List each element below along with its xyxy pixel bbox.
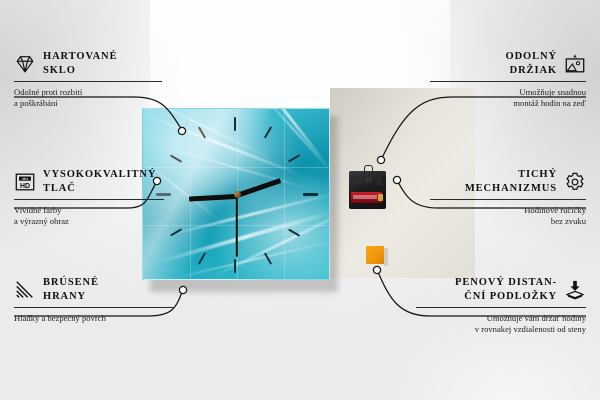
feature-title: ODOLNÝ DRŽIAK (506, 50, 558, 77)
beveled-edge-icon (14, 279, 36, 301)
clock-tick-10 (170, 154, 182, 163)
movement-detail (353, 177, 362, 184)
feature-header: ODOLNÝ DRŽIAK (430, 50, 586, 77)
picture-frame-icon (564, 53, 586, 75)
battery-label-strip (353, 195, 377, 199)
feature-header: BRÚSENÉ HRANY (14, 276, 174, 303)
feature-divider (14, 307, 174, 308)
feature-beveled-edges: BRÚSENÉ HRANY Hladký a bezpečný povrch (14, 276, 174, 324)
feature-description: Umožňuje vám držať hodiny v rovnakej vzd… (416, 313, 586, 335)
feature-title: HARTOVANÉ SKLO (43, 50, 117, 77)
feature-header: HARTOVANÉ SKLO (14, 50, 162, 77)
feature-durable-hanger: ODOLNÝ DRŽIAK Umožňuje snadnou montáž ho… (430, 50, 586, 109)
feature-divider (430, 199, 586, 200)
movement-detail (365, 177, 372, 183)
clock-second-hand (236, 195, 238, 257)
clock-center-cap (234, 191, 241, 198)
feature-title: BRÚSENÉ HRANY (43, 276, 99, 303)
clock-product (142, 108, 338, 288)
feature-description: Hodinové ručičky bez zvuku (430, 205, 586, 227)
ultra-hd-icon: ultra HD (14, 171, 36, 193)
battery-terminal (378, 194, 383, 201)
print-gridline (190, 109, 191, 279)
clock-tick-7 (198, 252, 207, 264)
gear-icon (564, 171, 586, 193)
clock-tick-3 (303, 193, 318, 196)
feature-header: PENOVÝ DISTAN- ČNÍ PODLOŽKY (416, 276, 586, 303)
feature-description: Umožňuje snadnou montáž hodin na zeď (430, 87, 586, 109)
foam-spacer-pad-side (384, 248, 388, 266)
movement-detail (375, 176, 382, 185)
clock-face (142, 108, 330, 280)
feature-divider (14, 81, 162, 82)
feature-divider (416, 307, 586, 308)
movement-hanger-icon (364, 165, 373, 174)
feature-high-quality-print: ultra HD VYSOKOKVALITNÝ TLAČ Vividné far… (14, 168, 164, 227)
foam-spacer-pad (366, 246, 384, 264)
feature-title: VYSOKOKVALITNÝ TLAČ (43, 168, 156, 195)
feature-divider (430, 81, 586, 82)
feature-hardened-glass: HARTOVANÉ SKLO Odolné proti rozbití a po… (14, 50, 162, 109)
feature-description: Odolné proti rozbití a poškrábání (14, 87, 162, 109)
feature-title: PENOVÝ DISTAN- ČNÍ PODLOŽKY (455, 276, 557, 303)
feature-divider (14, 199, 164, 200)
feature-description: Hladký a bezpečný povrch (14, 313, 174, 324)
feature-header: TICHÝ MECHANIZMUS (430, 168, 586, 195)
feature-foam-spacers: PENOVÝ DISTAN- ČNÍ PODLOŽKY Umožňuje vám… (416, 276, 586, 335)
product-infographic: HARTOVANÉ SKLO Odolné proti rozbití a po… (0, 0, 600, 400)
diamond-icon (14, 53, 36, 75)
feature-silent-mechanism: TICHÝ MECHANIZMUS Hodinové ručičky bez z… (430, 168, 586, 227)
feature-header: ultra HD VYSOKOKVALITNÝ TLAČ (14, 168, 164, 195)
feature-title: TICHÝ MECHANIZMUS (465, 168, 557, 195)
feature-description: Vividné farby a výrazný obraz (14, 205, 164, 227)
print-gridline (143, 167, 329, 168)
print-gridline (284, 109, 285, 279)
svg-text:ultra: ultra (22, 176, 29, 180)
foam-pad-icon (564, 279, 586, 301)
svg-text:HD: HD (20, 182, 30, 189)
